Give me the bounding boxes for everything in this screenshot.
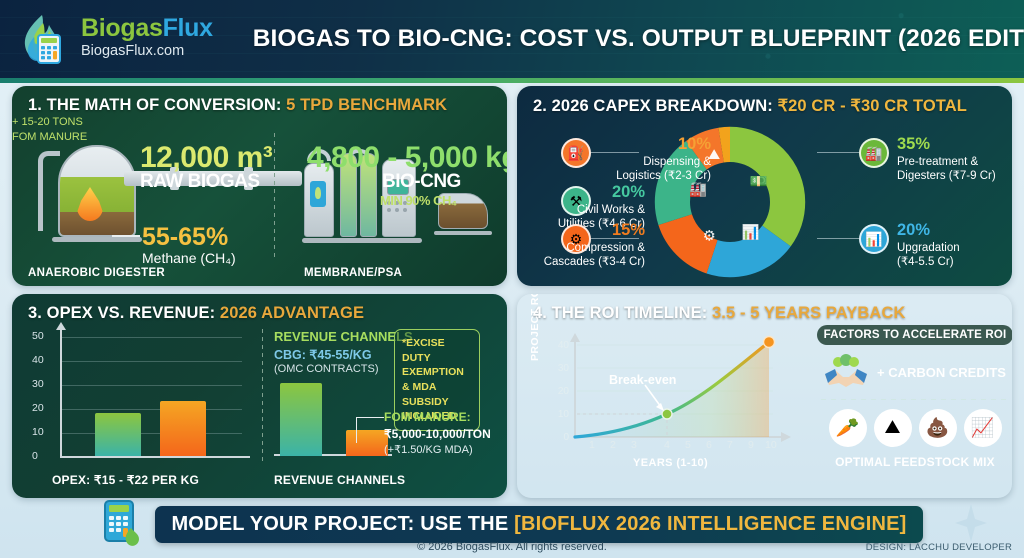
xtick-6: 6 xyxy=(706,439,712,451)
factors-panel: FACTORS TO ACCELERATE ROI + CARBON CREDI… xyxy=(817,325,1012,469)
bio-cng-label: BIO-CNG xyxy=(382,171,461,193)
panel2-title-main: 2. 2026 CAPEX BREAKDOWN: xyxy=(533,97,773,115)
page-header: BiogasFlux BiogasFlux.com BIOGAS TO BIO-… xyxy=(0,0,1024,78)
panel4-title: 4. THE ROI TIMELINE: 3.5 - 5 YEARS PAYBA… xyxy=(517,294,1012,323)
fom-manure-callout: FOM MANURE: ₹5,000-10,000/TON (+₹1.50/KG… xyxy=(384,409,491,458)
xtick-7: 7 xyxy=(727,439,733,451)
fom-callout-title: FOM MANURE: xyxy=(384,409,491,426)
panel1-title-main: 1. THE MATH OF CONVERSION: xyxy=(28,96,281,114)
cta-highlight-text: [BIOFLUX 2026 INTELLIGENCE ENGINE] xyxy=(514,513,906,535)
breakeven-annotation: Break-even xyxy=(609,373,676,387)
roi-x-axis-label: YEARS (1-10) xyxy=(633,457,708,469)
ytick-40: 40 xyxy=(32,354,44,366)
ytick-50: 50 xyxy=(32,330,44,342)
page-title: BIOGAS TO BIO-CNG: COST VS. OUTPUT BLUEP… xyxy=(253,25,1024,53)
panel2-title: 2. 2026 CAPEX BREAKDOWN: ₹20 CR - ₹30 CR… xyxy=(517,86,1012,116)
panel4-title-main: 4. THE ROI TIMELINE: xyxy=(533,304,707,322)
panel-math-of-conversion: 1. THE MATH OF CONVERSION: 5 TPD BENCHMA… xyxy=(12,86,507,286)
brand-name-part2: Flux xyxy=(163,14,213,42)
panel-opex-vs-revenue: 3. OPEX VS. REVENUE: 2026 ADVANTAGE 50 4… xyxy=(12,294,507,498)
biogasflux-flame-calculator-icon xyxy=(16,13,72,65)
donut-money-icon: 💵 xyxy=(750,174,768,190)
leader-upgradation xyxy=(817,238,865,239)
svg-text:40: 40 xyxy=(558,340,570,351)
fom-manure-tons: + 15-20 TONS xyxy=(12,115,507,130)
fom-callout-value: ₹5,000-10,000/TON xyxy=(384,426,491,443)
brand-logo[interactable]: BiogasFlux BiogasFlux.com xyxy=(0,13,213,65)
panel3-title: 3. OPEX VS. REVENUE: 2026 ADVANTAGE xyxy=(12,294,507,323)
bar-revenue-cbg xyxy=(280,383,322,456)
bar-opex-low xyxy=(95,413,141,456)
panel1-title: 1. THE MATH OF CONVERSION: 5 TPD BENCHMA… xyxy=(12,86,507,115)
leader-pretreatment xyxy=(817,152,865,153)
caption-membrane-psa: MEMBRANE/PSA xyxy=(304,267,402,279)
panel2-title-highlight: ₹20 CR - ₹30 CR TOTAL xyxy=(778,97,967,115)
svg-text:0: 0 xyxy=(563,432,569,443)
xtick-4: 4 xyxy=(664,439,670,451)
ytick-0: 0 xyxy=(32,450,38,462)
handshake-carbon-icon xyxy=(823,353,869,391)
panel3-body: 50 40 30 20 10 0 OPEX: ₹15 - ₹22 PER KG xyxy=(12,323,507,495)
panel3-title-main: 3. OPEX VS. REVENUE: xyxy=(28,304,215,322)
press-mud-icon: ⛰ xyxy=(874,409,912,447)
bio-cng-purity: MIN 90% CH₄ xyxy=(380,193,457,208)
feedstock-icons-row: 🥕 ⛰ 💩 📈 xyxy=(817,409,1012,447)
dung-glyph: 💩 xyxy=(926,416,950,440)
panel-roi-timeline: 4. THE ROI TIMELINE: 3.5 - 5 YEARS PAYBA… xyxy=(517,294,1012,498)
ytick-20: 20 xyxy=(32,402,44,414)
legend-compression: 15% Compression & Cascades (₹3-4 Cr) xyxy=(525,220,645,269)
panel1-title-highlight: 5 TPD BENCHMARK xyxy=(286,96,447,114)
panel3-title-highlight: 2026 ADVANTAGE xyxy=(220,304,364,322)
svg-text:10: 10 xyxy=(558,409,570,420)
methane-leader-line xyxy=(112,235,140,237)
press-mud-glyph: ⛰ xyxy=(885,417,901,439)
legend-dispensing: 10% Dispensing & Logistics (₹2-3 Cr) xyxy=(525,134,711,183)
panel3-divider xyxy=(262,329,263,465)
donut-compressor-icon: ⚙ xyxy=(703,228,716,244)
brand-wordmark: BiogasFlux xyxy=(81,16,213,41)
panels-grid: 1. THE MATH OF CONVERSION: 5 TPD BENCHMA… xyxy=(0,86,1024,498)
growth-glyph: 📈 xyxy=(971,416,995,440)
raw-biogas-value: 12,000 m³ xyxy=(140,141,272,175)
factors-divider xyxy=(821,399,1009,400)
brand-domain: BiogasFlux.com xyxy=(81,41,213,63)
factors-heading: FACTORS TO ACCELERATE ROI xyxy=(817,325,1012,345)
methane-percentage: 55-65% xyxy=(142,223,228,252)
revenue-cbg-price: CBG: ₹45-55/KG xyxy=(274,347,372,362)
header-accent-bar xyxy=(0,78,1024,83)
roi-curve: 01020 3040 xyxy=(533,327,803,455)
opex-axis-label: OPEX: ₹15 - ₹22 PER KG xyxy=(52,473,199,487)
donut-chart-icon: 📊 xyxy=(742,223,760,241)
feedstock-caption: OPTIMAL FEEDSTOCK MIX xyxy=(817,455,1012,469)
donut-plant-icon: 🏭 xyxy=(689,181,707,198)
design-credit: DESIGN: LACCHU DEVELOPER xyxy=(866,542,1012,553)
opex-bar-chart: 50 40 30 20 10 0 xyxy=(30,329,258,469)
raw-biogas-label: RAW BIOGAS xyxy=(140,171,260,193)
bio-cng-value: 4,800 - 5,000 kg xyxy=(307,141,507,175)
revenue-cbg-note: (OMC CONTRACTS) xyxy=(274,363,379,375)
methane-sublabel: Methane (CH₄) xyxy=(142,250,236,266)
bar-opex-high xyxy=(160,401,206,456)
ytick-10: 10 xyxy=(32,426,44,438)
xtick-5: 5 xyxy=(685,439,691,451)
revenue-channels-heading: REVENUE CHANNELS xyxy=(274,329,413,344)
panel1-divider xyxy=(274,133,275,261)
page-footer: MODEL YOUR PROJECT: USE THE [BIOFLUX 202… xyxy=(0,496,1024,558)
digester-icon: 🏭 xyxy=(859,138,889,168)
carbon-credits-row: + CARBON CREDITS xyxy=(817,353,1012,391)
fom-callout-sub: (+₹1.50/KG MDA) xyxy=(384,443,491,458)
xtick-9: 9 xyxy=(748,439,754,451)
panel4-body: PROJECT ROI (%) xyxy=(517,323,1012,495)
panel2-body: 💵 📊 ⚙ 🏭 ⛰ ⛽ 10% Dispensing & Logistics (… xyxy=(517,116,1012,282)
revenue-axis-label: REVENUE CHANNELS xyxy=(274,473,405,487)
xtick-10: 10 xyxy=(765,439,777,451)
legend-pretreatment: 35% Pre-treatment & Digesters (₹7-9 Cr) xyxy=(897,134,1012,183)
legend-upgradation: 20% Upgradation (₹4-5.5 Cr) xyxy=(897,220,1012,269)
ytick-30: 30 xyxy=(32,378,44,390)
caption-anaerobic-digester: ANAEROBIC DIGESTER xyxy=(28,267,165,279)
cta-banner[interactable]: MODEL YOUR PROJECT: USE THE [BIOFLUX 202… xyxy=(155,506,922,543)
brand-name-part1: Biogas xyxy=(81,14,163,42)
vegetable-glyph: 🥕 xyxy=(836,416,860,440)
xtick-2: 2 xyxy=(610,439,616,451)
panel-capex-breakdown: 2. 2026 CAPEX BREAKDOWN: ₹20 CR - ₹30 CR… xyxy=(517,86,1012,286)
infographic-page: BiogasFlux BiogasFlux.com BIOGAS TO BIO-… xyxy=(0,0,1024,558)
x-axis xyxy=(60,456,250,458)
cta-main-text: MODEL YOUR PROJECT: USE THE xyxy=(171,513,508,535)
fom-leader-line xyxy=(356,417,384,443)
panel1-body: 12,000 m³ RAW BIOGAS 4,800 - 5,000 kg BI… xyxy=(12,115,507,280)
cattle-dung-icon: 💩 xyxy=(919,409,957,447)
chart-bar-icon: 📊 xyxy=(859,224,889,254)
carbon-credits-label: + CARBON CREDITS xyxy=(877,365,1006,380)
growth-chart-icon: 📈 xyxy=(964,409,1002,447)
anaerobic-digester-icon xyxy=(30,137,150,249)
xtick-3: 3 xyxy=(631,439,637,451)
xtick-1: 1 xyxy=(589,439,595,451)
svg-text:20: 20 xyxy=(558,386,570,397)
panel4-title-highlight: 3.5 - 5 YEARS PAYBACK xyxy=(712,304,905,322)
vegetable-waste-icon: 🥕 xyxy=(829,409,867,447)
roi-line-chart: PROJECT ROI (%) xyxy=(533,327,813,477)
svg-text:30: 30 xyxy=(558,363,570,374)
